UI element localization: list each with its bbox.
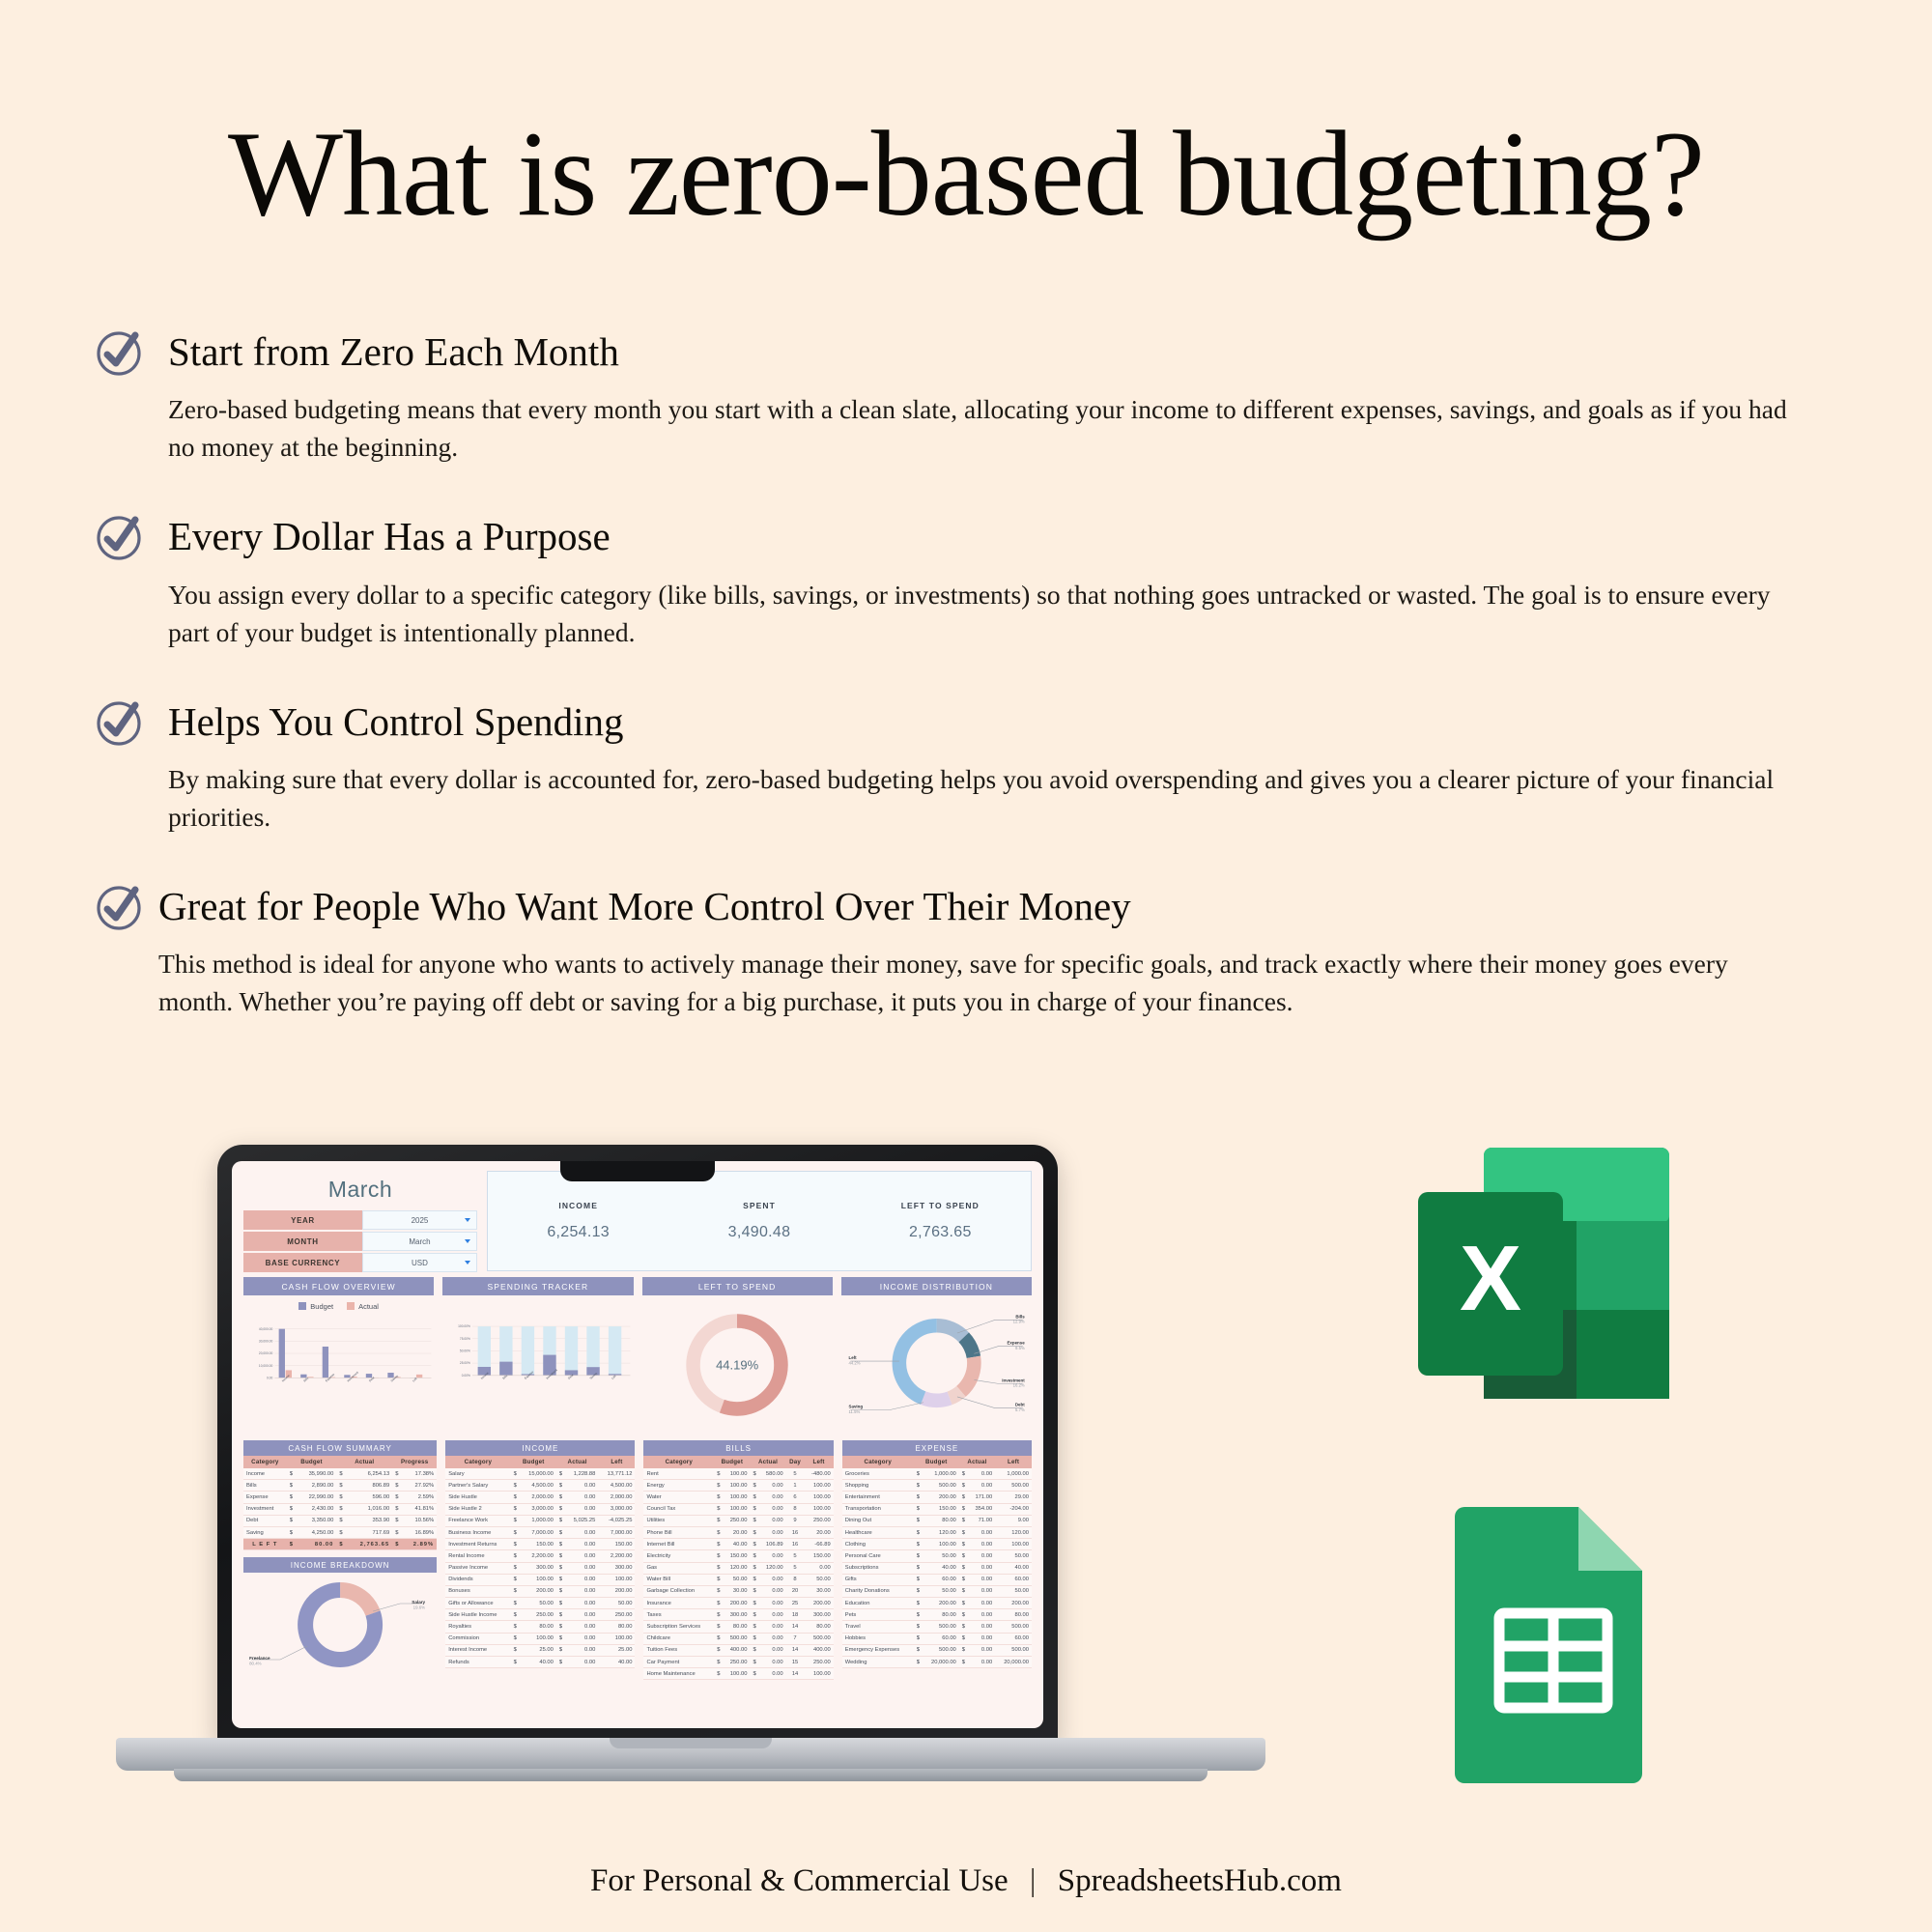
column-header: Category [445,1456,510,1468]
cell-budget: 80.00 [520,1621,556,1633]
svg-text:Left: Left [848,1355,857,1360]
cell-left: 250.00 [598,1609,635,1621]
column-header: Left [995,1456,1032,1468]
table-row: Water Bill$50.00$0.00850.00 [643,1574,833,1585]
cell-actual: 0.00 [968,1574,995,1585]
currency-symbol: $ [959,1574,968,1585]
currency-symbol: $ [914,1598,923,1609]
svg-text:Freelance: Freelance [249,1656,270,1661]
cell-category: Dividends [445,1574,510,1585]
table-row: Commission$100.00$0.00100.00 [445,1633,635,1644]
footer-usage-text: For Personal & Commercial Use [590,1863,1009,1898]
currency-symbol: $ [750,1492,758,1503]
cell-actual: 0.00 [565,1585,598,1597]
currency-symbol: $ [914,1574,923,1585]
currency-symbol: $ [511,1621,520,1633]
parameter-select-currency[interactable]: USD [362,1253,477,1272]
cell-left: 25.00 [598,1644,635,1656]
cell-day: 1 [786,1480,805,1492]
currency-symbol: $ [511,1492,520,1503]
cell-day: 18 [786,1609,805,1621]
cell-budget: 30.00 [723,1585,750,1597]
currency-symbol: $ [959,1633,968,1644]
cell-category: Education [842,1598,914,1609]
currency-symbol: $ [959,1526,968,1538]
cell-category: Utilities [643,1515,714,1526]
chart-cash-flow-overview: Budget Actual [243,1299,434,1435]
currency-symbol: $ [556,1644,565,1656]
currency-symbol: $ [914,1585,923,1597]
list-item-body: By making sure that every dollar is acco… [168,760,1810,836]
cell-actual: 0.00 [565,1492,598,1503]
cell-category: Gas [643,1562,714,1574]
cell-actual: 0.00 [565,1503,598,1515]
cell-budget: 80.00 [297,1539,336,1550]
benefits-list: Start from Zero Each Month Zero-based bu… [93,324,1841,1020]
check-circle-icon [93,326,147,380]
table-row: Hobbies$60.00$0.0060.00 [842,1633,1032,1644]
cell-category: Healthcare [842,1526,914,1538]
kpi-income: INCOME 6,254.13 [488,1201,668,1241]
column-header: Actual [336,1456,392,1468]
bills-table: Category Budget Actual Day Left Rent$100… [643,1456,833,1680]
cell-progress: 2.59% [402,1492,437,1503]
currency-symbol: $ [959,1468,968,1480]
panel-title-bills: BILLS [643,1440,833,1456]
cell-budget: 100.00 [723,1668,750,1680]
currency-symbol: $ [750,1480,758,1492]
chevron-down-icon [465,1218,470,1222]
cell-actual: 580.00 [759,1468,786,1480]
cell-actual: 0.00 [759,1657,786,1668]
cell-left: 500.00 [995,1644,1032,1656]
cell-left: 50.00 [804,1574,833,1585]
cell-budget: 60.00 [923,1633,959,1644]
cell-actual: 5,025.25 [565,1515,598,1526]
cell-left: 200.00 [804,1598,833,1609]
table-row: Car Payment$250.00$0.0015250.00 [643,1657,833,1668]
currency-symbol: $ [914,1644,923,1656]
currency-symbol: $ [914,1515,923,1526]
currency-symbol: $ [511,1503,520,1515]
list-item: Start from Zero Each Month Zero-based bu… [93,324,1841,466]
cell-progress: 16.89% [402,1526,437,1538]
cell-budget: 250.00 [723,1657,750,1668]
currency-symbol: $ [750,1657,758,1668]
cell-left: 30.00 [804,1585,833,1597]
cell-left: 100.00 [804,1492,833,1503]
table-row: Education$200.00$0.00200.00 [842,1598,1032,1609]
chart-section-headers: CASH FLOW OVERVIEW SPENDING TRACKER LEFT… [243,1277,1032,1295]
cell-category: Charity Donations [842,1585,914,1597]
cell-category: Business Income [445,1526,510,1538]
cell-category: Travel [842,1621,914,1633]
cell-day: 14 [786,1644,805,1656]
income-table-body: Salary$15,000.00$1,228.8813,771.12Partne… [445,1468,635,1668]
svg-text:Expense: Expense [1007,1341,1025,1346]
list-item-body: Zero-based budgeting means that every mo… [168,390,1810,466]
cell-actual: 354.00 [968,1503,995,1515]
cell-left: 50.00 [995,1550,1032,1562]
table-row: Refunds$40.00$0.0040.00 [445,1657,635,1668]
table-row: Gifts$60.00$0.0060.00 [842,1574,1032,1585]
list-item-heading: Helps You Control Spending [168,694,1841,747]
cell-left: 2,200.00 [598,1550,635,1562]
cell-budget: 20,000.00 [923,1657,959,1668]
cell-category: Investment Returns [445,1539,510,1550]
cell-budget: 150.00 [723,1550,750,1562]
cell-day: 6 [786,1492,805,1503]
cell-day: 9 [786,1515,805,1526]
cell-actual: 0.00 [759,1609,786,1621]
cell-day: 15 [786,1657,805,1668]
cell-budget: 22,990.00 [297,1492,336,1503]
list-item-heading: Start from Zero Each Month [168,324,1841,377]
currency-symbol: $ [556,1633,565,1644]
table-row: Personal Care$50.00$0.0050.00 [842,1550,1032,1562]
table-row: Travel$500.00$0.00500.00 [842,1621,1032,1633]
currency-symbol: $ [714,1657,723,1668]
cell-day: 5 [786,1468,805,1480]
cell-day: 8 [786,1503,805,1515]
footer-site-text: SpreadsheetsHub.com [1058,1863,1342,1898]
column-header: Budget [914,1456,959,1468]
cell-actual: 0.00 [565,1609,598,1621]
table-row: Debt$3,350.00$353.90$10.56% [243,1515,437,1526]
currency-symbol: $ [959,1503,968,1515]
cell-actual: 717.69 [347,1526,393,1538]
cell-budget: 250.00 [723,1515,750,1526]
cell-category: Passive Income [445,1562,510,1574]
table-row: Royalties$80.00$0.0080.00 [445,1621,635,1633]
currency-symbol: $ [556,1539,565,1550]
cell-left: 60.00 [995,1574,1032,1585]
currency-symbol: $ [714,1550,723,1562]
chevron-down-icon [465,1261,470,1264]
currency-symbol: $ [714,1621,723,1633]
cell-budget: 150.00 [520,1539,556,1550]
table-row: Internet Bill$40.00$106.8916-66.89 [643,1539,833,1550]
cell-actual: 71.00 [968,1515,995,1526]
currency-symbol: $ [714,1539,723,1550]
cell-actual: 0.00 [968,1609,995,1621]
cell-progress: 2.89% [402,1539,437,1550]
currency-symbol: $ [336,1515,346,1526]
income-distribution-donut-svg: Bills 12.9% Expense 9.5% Investment 16.2… [841,1303,1032,1425]
currency-symbol: $ [511,1609,520,1621]
cell-actual: 0.00 [968,1468,995,1480]
parameter-value: 2025 [412,1216,429,1225]
cell-left: 150.00 [804,1550,833,1562]
excel-app-icon: X [1418,1136,1669,1445]
currency-symbol: $ [511,1539,520,1550]
cell-category: Commission [445,1633,510,1644]
chart-left-to-spend: 44.19% [642,1299,833,1435]
cell-left: 40.00 [598,1657,635,1668]
list-item: Great for People Who Want More Control O… [93,878,1841,1020]
cell-category: Council Tax [643,1503,714,1515]
cell-left: 80.00 [598,1621,635,1633]
cell-left: 120.00 [995,1526,1032,1538]
income-table: Category Budget Actual Left Salary$15,00… [445,1456,635,1668]
cell-actual: 596.00 [347,1492,393,1503]
cell-left: 4,500.00 [598,1480,635,1492]
check-circle-icon [93,880,147,934]
currency-symbol: $ [392,1480,402,1492]
cell-left: 40.00 [995,1562,1032,1574]
currency-symbol: $ [714,1503,723,1515]
cell-actual: 0.00 [759,1526,786,1538]
tables-row: CASH FLOW SUMMARY Category Budget Actual… [243,1440,1032,1681]
cell-category: Saving [243,1526,287,1538]
cell-category: Garbage Collection [643,1585,714,1597]
list-item-body: You assign every dollar to a specific ca… [168,576,1810,651]
cell-category: Car Payment [643,1657,714,1668]
currency-symbol: $ [914,1621,923,1633]
currency-symbol: $ [714,1585,723,1597]
cell-category: Shopping [842,1480,914,1492]
laptop-lid: March YEAR 2025 MONTH March [217,1145,1058,1744]
currency-symbol: $ [392,1503,402,1515]
laptop-foot [174,1769,1207,1781]
column-header: Budget [511,1456,556,1468]
cell-category: Water [643,1492,714,1503]
cell-budget: 100.00 [923,1539,959,1550]
cell-actual: 0.00 [759,1644,786,1656]
svg-text:0.00: 0.00 [267,1377,272,1380]
parameter-row-year: YEAR 2025 [243,1210,477,1230]
cell-left: 100.00 [598,1574,635,1585]
svg-text:40,000.00: 40,000.00 [259,1327,273,1331]
parameter-value: March [409,1237,430,1246]
cell-budget: 50.00 [520,1598,556,1609]
cell-category: Royalties [445,1621,510,1633]
cell-budget: 40.00 [923,1562,959,1574]
cell-day: 8 [786,1574,805,1585]
list-item: Every Dollar Has a Purpose You assign ev… [93,508,1841,650]
cell-category: Gifts or Allowance [445,1598,510,1609]
kpi-spent: SPENT 3,490.48 [668,1201,849,1241]
currency-symbol: $ [750,1585,758,1597]
svg-text:16.2%: 16.2% [1012,1383,1024,1388]
cell-day: 14 [786,1621,805,1633]
column-header: Actual [750,1456,785,1468]
cell-left: 7,000.00 [598,1526,635,1538]
google-sheets-app-icon [1443,1499,1665,1789]
footer-separator: | [1030,1863,1037,1898]
kpi-value: 6,254.13 [488,1224,668,1241]
table-row: Subscriptions$40.00$0.0040.00 [842,1562,1032,1574]
currency-symbol: $ [714,1668,723,1680]
cell-category: Pets [842,1609,914,1621]
cell-budget: 25.00 [520,1644,556,1656]
cell-category: Phone Bill [643,1526,714,1538]
cell-actual: 171.00 [968,1492,995,1503]
currency-symbol: $ [556,1621,565,1633]
kpi-label: LEFT TO SPEND [850,1201,1031,1210]
chart-income-distribution: Bills 12.9% Expense 9.5% Investment 16.2… [841,1299,1032,1435]
table-row: Home Maintenance$100.00$0.0014100.00 [643,1668,833,1680]
cell-left: 500.00 [804,1633,833,1644]
cell-budget: 60.00 [923,1574,959,1585]
cell-day: 25 [786,1598,805,1609]
cell-budget: 100.00 [520,1633,556,1644]
parameter-label: MONTH [243,1232,362,1251]
column-header: Progress [392,1456,437,1468]
currency-symbol: $ [392,1539,402,1550]
cell-category: Rent [643,1468,714,1480]
cell-budget: 35,990.00 [297,1468,336,1480]
cell-actual: 6,254.13 [347,1468,393,1480]
currency-symbol: $ [914,1539,923,1550]
table-row: Dividends$100.00$0.00100.00 [445,1574,635,1585]
currency-symbol: $ [914,1550,923,1562]
table-row: Garbage Collection$30.00$0.002030.00 [643,1585,833,1597]
table-row: Tuition Fees$400.00$0.0014400.00 [643,1644,833,1656]
cell-actual: 0.00 [759,1585,786,1597]
cell-left: 80.00 [804,1621,833,1633]
column-header: Budget [714,1456,750,1468]
currency-symbol: $ [750,1515,758,1526]
cell-budget: 7,000.00 [520,1526,556,1538]
cell-actual: 0.00 [565,1550,598,1562]
cell-progress: 27.92% [402,1480,437,1492]
bills-table-body: Rent$100.00$580.005-480.00Energy$100.00$… [643,1468,833,1680]
cell-budget: 4,500.00 [520,1480,556,1492]
month-heading: March [243,1171,477,1210]
column-header: Category [643,1456,714,1468]
currency-symbol: $ [750,1503,758,1515]
table-row: Water$100.00$0.006100.00 [643,1492,833,1503]
table-row: Taxes$300.00$0.0018300.00 [643,1609,833,1621]
currency-symbol: $ [556,1609,565,1621]
cell-category: Transportation [842,1503,914,1515]
cell-budget: 2,890.00 [297,1480,336,1492]
currency-symbol: $ [914,1492,923,1503]
cell-category: Side Hustle Income [445,1609,510,1621]
cell-left: 3,000.00 [598,1503,635,1515]
svg-text:25.00%: 25.00% [460,1361,470,1365]
table-row: Entertainment$200.00$171.0029.00 [842,1492,1032,1503]
table-row: Utilities$250.00$0.009250.00 [643,1515,833,1526]
cell-left: 50.00 [995,1585,1032,1597]
svg-text:44.2%: 44.2% [848,1360,860,1365]
cell-actual: 0.00 [968,1657,995,1668]
cell-actual: 0.00 [968,1633,995,1644]
parameter-select-month[interactable]: March [362,1232,477,1251]
table-header-row: Category Budget Actual Progress [243,1456,437,1468]
cell-actual: 0.00 [759,1574,786,1585]
cell-budget: 3,000.00 [520,1503,556,1515]
currency-symbol: $ [556,1526,565,1538]
cell-progress: 10.56% [402,1515,437,1526]
kpi-value: 2,763.65 [850,1224,1031,1241]
cell-category: Partner's Salary [445,1480,510,1492]
cell-category: Personal Care [842,1550,914,1562]
cell-category: Rental Income [445,1550,510,1562]
cell-actual: 0.00 [759,1480,786,1492]
page-title: What is zero-based budgeting? [0,114,1932,236]
cell-category: Internet Bill [643,1539,714,1550]
currency-symbol: $ [714,1633,723,1644]
cell-budget: 15,000.00 [520,1468,556,1480]
currency-symbol: $ [959,1585,968,1597]
cell-actual: 0.00 [968,1562,995,1574]
cell-left: 300.00 [804,1609,833,1621]
svg-text:10,000.00: 10,000.00 [259,1364,273,1368]
table-row: Shopping$500.00$0.00500.00 [842,1480,1032,1492]
cell-budget: 3,350.00 [297,1515,336,1526]
cell-left: 2,000.00 [598,1492,635,1503]
cell-category: Side Hustle [445,1492,510,1503]
cell-budget: 200.00 [723,1598,750,1609]
kpi-label: SPENT [668,1201,849,1210]
currency-symbol: $ [511,1598,520,1609]
currency-symbol: $ [714,1598,723,1609]
currency-symbol: $ [914,1609,923,1621]
cell-actual: 0.00 [759,1621,786,1633]
expense-table-body: Groceries$1,000.00$0.001,000.00Shopping$… [842,1468,1032,1668]
currency-symbol: $ [750,1633,758,1644]
legend-swatch-budget [298,1302,306,1310]
cell-day: 7 [786,1633,805,1644]
table-row: Passive Income$300.00$0.00300.00 [445,1562,635,1574]
cell-left: -66.89 [804,1539,833,1550]
cell-left: 250.00 [804,1657,833,1668]
check-circle-icon [93,510,147,564]
cell-actual: 0.00 [565,1657,598,1668]
currency-symbol: $ [287,1515,297,1526]
parameter-value: USD [412,1259,428,1267]
currency-symbol: $ [914,1562,923,1574]
cell-left: 200.00 [995,1598,1032,1609]
currency-symbol: $ [336,1539,346,1550]
cell-left: 29.00 [995,1492,1032,1503]
cell-left: -204.00 [995,1503,1032,1515]
cell-actual: 353.90 [347,1515,393,1526]
cell-actual: 0.00 [968,1526,995,1538]
cell-actual: 120.00 [759,1562,786,1574]
currency-symbol: $ [556,1515,565,1526]
column-header: Budget [287,1456,337,1468]
table-row: Transportation$150.00$354.00-204.00 [842,1503,1032,1515]
currency-symbol: $ [511,1480,520,1492]
parameter-label: BASE CURRENCY [243,1253,362,1272]
cell-category: Investment [243,1503,287,1515]
currency-symbol: $ [392,1526,402,1538]
chevron-down-icon [465,1239,470,1243]
panel-title-cash-flow-summary: CASH FLOW SUMMARY [243,1440,437,1456]
currency-symbol: $ [556,1468,565,1480]
parameter-row-currency: BASE CURRENCY USD [243,1253,477,1272]
cell-category: Gifts [842,1574,914,1585]
table-row: Groceries$1,000.00$0.001,000.00 [842,1468,1032,1480]
svg-text:80.4%: 80.4% [249,1662,262,1666]
cell-budget: 1,000.00 [923,1468,959,1480]
currency-symbol: $ [914,1657,923,1668]
income-column: INCOME Category Budget Actual Left Sa [445,1440,635,1681]
currency-symbol: $ [750,1562,758,1574]
table-row: Side Hustle 2$3,000.00$0.003,000.00 [445,1503,635,1515]
cell-left: -480.00 [804,1468,833,1480]
cell-actual: 0.00 [968,1621,995,1633]
currency-symbol: $ [336,1468,346,1480]
cell-left: 100.00 [804,1668,833,1680]
table-row: Electricity$150.00$0.005150.00 [643,1550,833,1562]
cell-category: Wedding [842,1657,914,1668]
parameter-select-year[interactable]: 2025 [362,1210,477,1230]
currency-symbol: $ [750,1609,758,1621]
